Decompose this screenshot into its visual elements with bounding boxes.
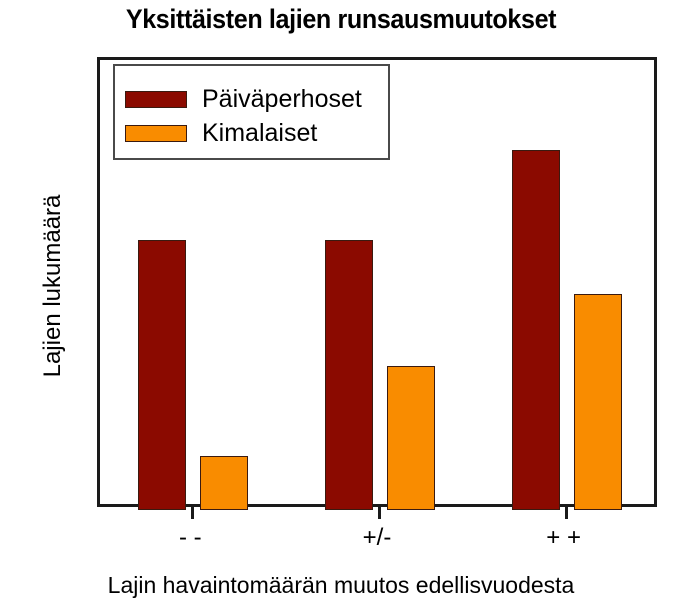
- x-tick-label: + +: [494, 524, 634, 552]
- x-tick-mark: [565, 507, 568, 519]
- bar-kimalaiset: [387, 366, 435, 510]
- legend-swatch-icon: [125, 125, 187, 142]
- bar-paivaperhoset: [138, 240, 186, 510]
- legend-label: Kimalaiset: [202, 121, 317, 146]
- y-axis-title: Lajien lukumäärä: [39, 136, 67, 436]
- bar-kimalaiset: [574, 294, 622, 510]
- x-tick-mark: [191, 507, 194, 519]
- x-tick-label: - -: [120, 524, 260, 552]
- legend-item: Kimalaiset: [125, 118, 317, 148]
- chart-title: Yksittäisten lajien runsausmuutokset: [24, 2, 658, 36]
- chart-legend: PäiväperhosetKimalaiset: [113, 64, 390, 160]
- bar-paivaperhoset: [512, 150, 560, 510]
- legend-item: Päiväperhoset: [125, 84, 362, 114]
- bar-kimalaiset: [200, 456, 248, 510]
- x-tick-label: +/-: [307, 524, 447, 552]
- x-axis-title: Lajin havaintomäärän muutos edellisvuode…: [0, 572, 682, 599]
- bar-chart-figure: Yksittäisten lajien runsausmuutokset Laj…: [0, 0, 682, 614]
- legend-label: Päiväperhoset: [202, 87, 362, 112]
- legend-swatch-icon: [125, 91, 187, 108]
- x-tick-mark: [378, 507, 381, 519]
- bar-paivaperhoset: [325, 240, 373, 510]
